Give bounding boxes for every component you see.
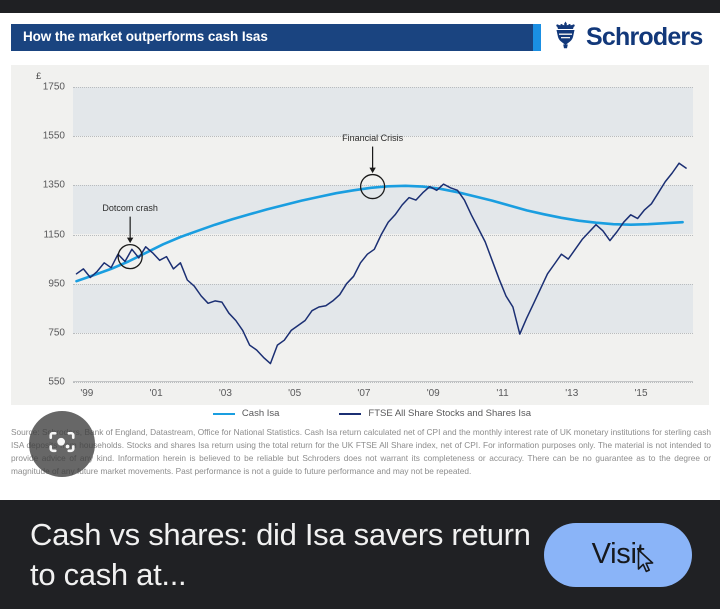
- brand-name: Schroders: [586, 25, 702, 50]
- annotation-circle: [118, 245, 142, 269]
- x-axis-tick: '03: [219, 388, 232, 399]
- google-lens-button[interactable]: [29, 411, 95, 477]
- x-axis-tick: '15: [635, 388, 648, 399]
- chart-title: How the market outperforms cash Isas: [23, 29, 268, 44]
- chart-header: How the market outperforms cash Isas: [11, 24, 541, 51]
- x-axis-tick: '01: [150, 388, 163, 399]
- x-axis-tick: '11: [496, 388, 508, 399]
- annotation-circle: [361, 175, 385, 199]
- y-axis-tick: 1150: [43, 229, 65, 240]
- heraldic-crest-icon: [552, 21, 579, 54]
- legend-label-ftse: FTSE All Share Stocks and Shares Isa: [368, 408, 531, 419]
- annotation-label: Financial Crisis: [342, 133, 403, 143]
- y-axis-tick: 550: [48, 377, 65, 388]
- header-accent-stripe: [533, 24, 541, 51]
- y-axis-unit-label: £: [36, 71, 41, 82]
- chart-figure: £ 1750155013501150950750550 '99'01'03'05…: [11, 65, 709, 405]
- annotation-arrowhead: [369, 168, 375, 174]
- plot-area: 1750155013501150950750550 '99'01'03'05'0…: [73, 87, 693, 382]
- annotation-arrowhead: [127, 238, 133, 244]
- y-axis-tick: 750: [48, 327, 65, 338]
- annotation-label: Dotcom crash: [102, 203, 158, 213]
- annotation-marks: [73, 87, 693, 382]
- x-axis-tick: '09: [427, 388, 440, 399]
- x-axis-tick: '99: [80, 388, 93, 399]
- legend-label-cash-isa: Cash Isa: [242, 408, 280, 419]
- legend-swatch-cash-isa: [213, 413, 235, 415]
- chart-legend: Cash Isa FTSE All Share Stocks and Share…: [62, 408, 682, 419]
- gridline: [73, 382, 693, 383]
- source-disclaimer: Source: Schroders, Bank of England, Data…: [11, 426, 711, 477]
- status-bar-strip: [0, 0, 720, 13]
- chart-header-bar: How the market outperforms cash Isas: [11, 24, 533, 51]
- y-axis-tick: 1350: [43, 180, 65, 191]
- schroders-logo: Schroders: [552, 21, 702, 54]
- y-axis-tick: 1750: [43, 82, 65, 93]
- legend-swatch-ftse: [339, 413, 361, 415]
- mouse-cursor-icon: [637, 549, 655, 579]
- y-axis-tick: 950: [48, 278, 65, 289]
- x-axis-tick: '05: [288, 388, 301, 399]
- visit-button[interactable]: Visit: [544, 523, 692, 587]
- bottom-overlay-bar: Cash vs shares: did Isa savers return to…: [0, 500, 720, 609]
- google-lens-camera-icon: [47, 427, 77, 462]
- article-headline: Cash vs shares: did Isa savers return to…: [0, 515, 544, 594]
- article-card: How the market outperforms cash Isas S: [0, 13, 720, 500]
- y-axis-tick: 1550: [43, 131, 65, 142]
- x-axis-tick: '07: [357, 388, 370, 399]
- legend-item-cash-isa: Cash Isa: [213, 408, 280, 419]
- x-axis-tick: '13: [565, 388, 578, 399]
- legend-item-ftse: FTSE All Share Stocks and Shares Isa: [339, 408, 531, 419]
